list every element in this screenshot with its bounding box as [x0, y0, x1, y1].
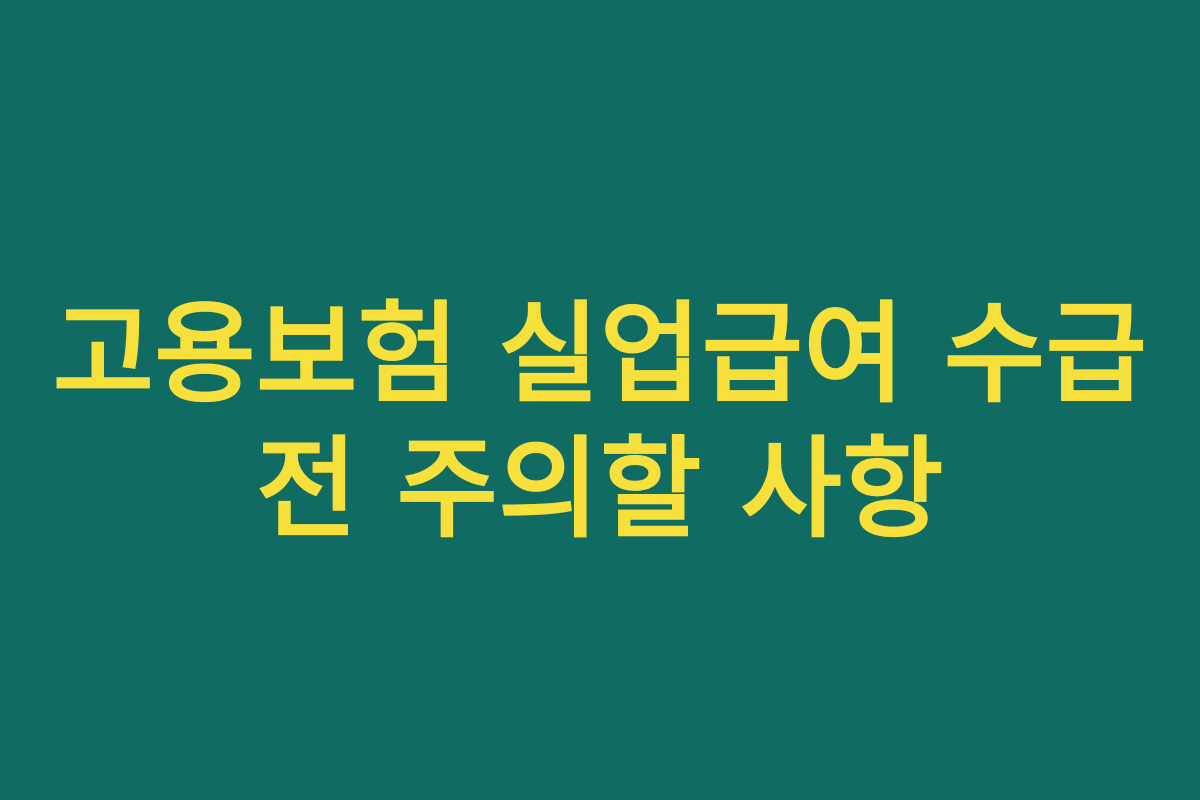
banner-title-line-2: 전 주의할 사항: [0, 422, 1200, 557]
banner-title-block: 고용보험 실업급여 수급 전 주의할 사항: [0, 287, 1200, 557]
banner-title-line-1: 고용보험 실업급여 수급: [0, 287, 1200, 422]
title-banner: 고용보험 실업급여 수급 전 주의할 사항: [0, 0, 1200, 800]
